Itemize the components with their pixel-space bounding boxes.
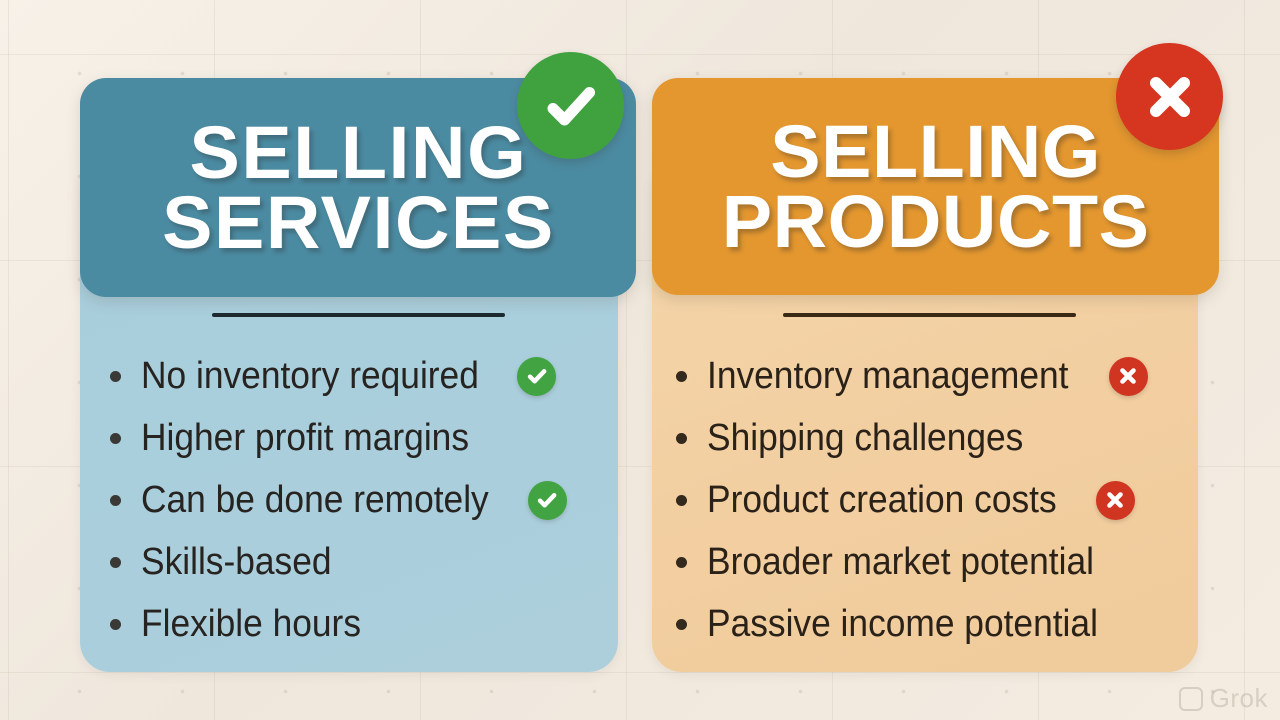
list-item-label: Inventory management	[707, 355, 1068, 398]
card-selling-products: SELLING PRODUCTS Inventory management Sh…	[640, 0, 1220, 720]
comparison-infographic: SELLING SERVICES No inventory required H…	[0, 0, 1280, 720]
list-item: Passive income potential	[668, 593, 1193, 655]
cross-icon	[1096, 481, 1135, 520]
grok-logo-icon	[1179, 687, 1203, 711]
list-item: Broader market potential	[668, 531, 1193, 593]
bullet-icon	[110, 371, 121, 382]
list-item: Skills-based	[102, 531, 607, 593]
cross-icon	[1109, 357, 1148, 396]
divider-services	[212, 313, 505, 317]
drawback-list-products: Inventory management Shipping challenges…	[668, 345, 1193, 655]
bullet-icon	[676, 557, 687, 568]
bullet-icon	[676, 495, 687, 506]
list-item-label: Broader market potential	[707, 541, 1094, 584]
check-icon	[517, 52, 624, 159]
benefit-list-services: No inventory required Higher profit marg…	[102, 345, 607, 655]
watermark: Grok	[1179, 683, 1268, 714]
card-title-products: SELLING PRODUCTS	[709, 117, 1161, 256]
list-item: Flexible hours	[102, 593, 607, 655]
list-item-label: Can be done remotely	[141, 479, 489, 522]
card-title-services: SELLING SERVICES	[149, 118, 566, 257]
list-item: No inventory required	[102, 345, 607, 407]
bullet-icon	[676, 433, 687, 444]
list-item-label: No inventory required	[141, 355, 479, 398]
list-item: Inventory management	[668, 345, 1193, 407]
list-item: Shipping challenges	[668, 407, 1193, 469]
bullet-icon	[110, 619, 121, 630]
divider-products	[783, 313, 1076, 317]
list-item: Product creation costs	[668, 469, 1193, 531]
list-item-label: Higher profit margins	[141, 417, 469, 460]
card-selling-services: SELLING SERVICES No inventory required H…	[62, 0, 636, 720]
cross-icon	[1116, 43, 1223, 150]
bullet-icon	[110, 557, 121, 568]
list-item: Higher profit margins	[102, 407, 607, 469]
bullet-icon	[676, 371, 687, 382]
check-icon	[517, 357, 556, 396]
watermark-label: Grok	[1210, 683, 1268, 714]
bullet-icon	[110, 433, 121, 444]
bullet-icon	[676, 619, 687, 630]
list-item-label: Flexible hours	[141, 603, 361, 646]
check-icon	[528, 481, 567, 520]
list-item-label: Product creation costs	[707, 479, 1057, 522]
list-item: Can be done remotely	[102, 469, 607, 531]
bullet-icon	[110, 495, 121, 506]
list-item-label: Shipping challenges	[707, 417, 1023, 460]
list-item-label: Skills-based	[141, 541, 332, 584]
list-item-label: Passive income potential	[707, 603, 1098, 646]
